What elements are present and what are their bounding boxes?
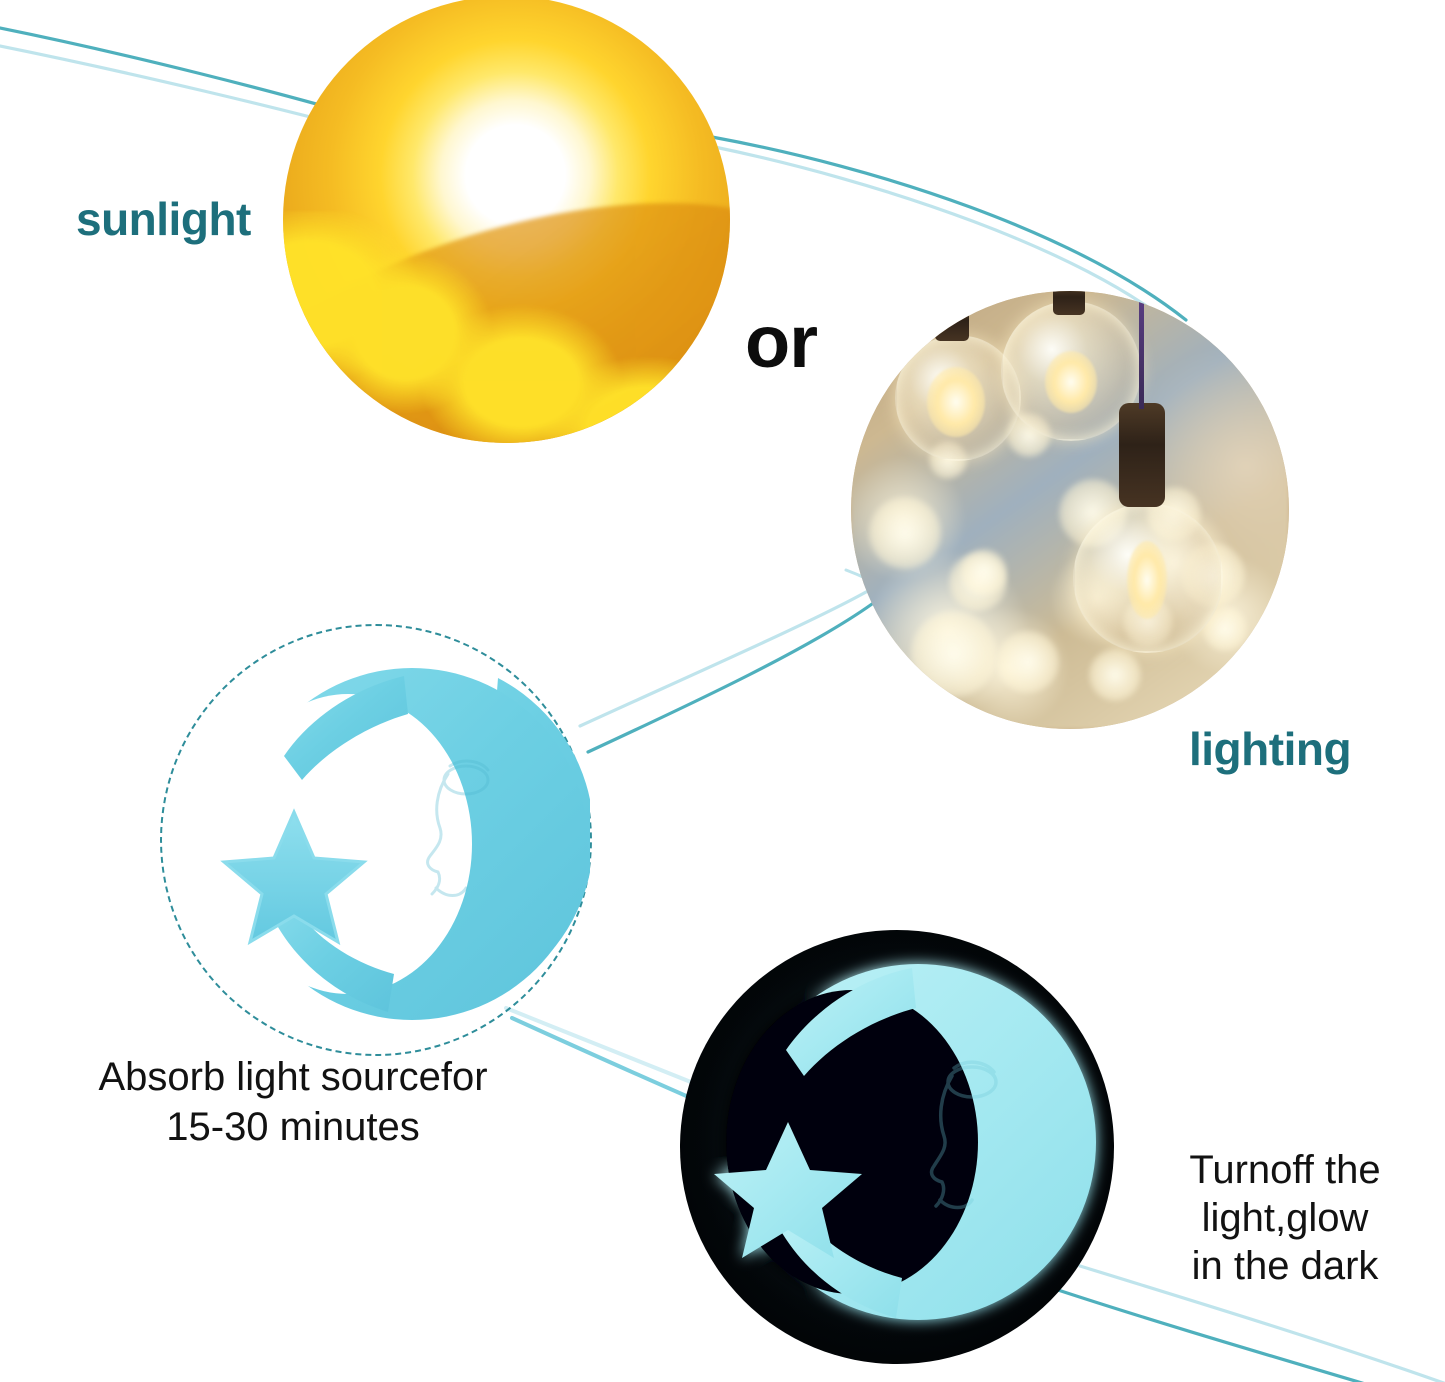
bokeh-dot [961, 549, 1007, 595]
sun-icon [283, 0, 730, 443]
bulb-filament [1127, 541, 1167, 619]
glow-moon-svg [680, 930, 1114, 1364]
bokeh-dot [1089, 649, 1141, 701]
absorb-caption: Absorb light sourcefor 15-30 minutes [28, 1052, 558, 1152]
bulb-socket [1053, 291, 1085, 315]
connector-moon-to-lighting-teal [588, 604, 872, 752]
bokeh-dot [997, 631, 1059, 693]
connector-glow-bottom-teal [1058, 1290, 1445, 1382]
connector-moon-to-lighting-pale [580, 592, 866, 726]
bulb-socket [935, 307, 969, 341]
glow-crescent-cutout [726, 990, 978, 1294]
sun-cloud-rim [283, 211, 730, 443]
bulb-filament [1045, 351, 1097, 413]
bokeh-dot [869, 497, 941, 569]
bulb-cord [1139, 291, 1144, 409]
light-bulbs-icon [851, 291, 1289, 729]
turnoff-caption: Turnoff the light,glow in the dark [1140, 1146, 1430, 1290]
bulb-socket [1119, 403, 1165, 507]
crescent-moon-star-icon [198, 648, 590, 1040]
or-label: or [745, 299, 817, 384]
bulb-filament [927, 367, 985, 437]
infographic-canvas: sunlight or lighting [0, 0, 1445, 1382]
bokeh-dot [911, 611, 997, 697]
lighting-label: lighting [1189, 722, 1351, 776]
glowing-moon-star-icon [680, 930, 1114, 1364]
sunlight-label: sunlight [76, 192, 251, 246]
light-bulb [1073, 503, 1223, 653]
